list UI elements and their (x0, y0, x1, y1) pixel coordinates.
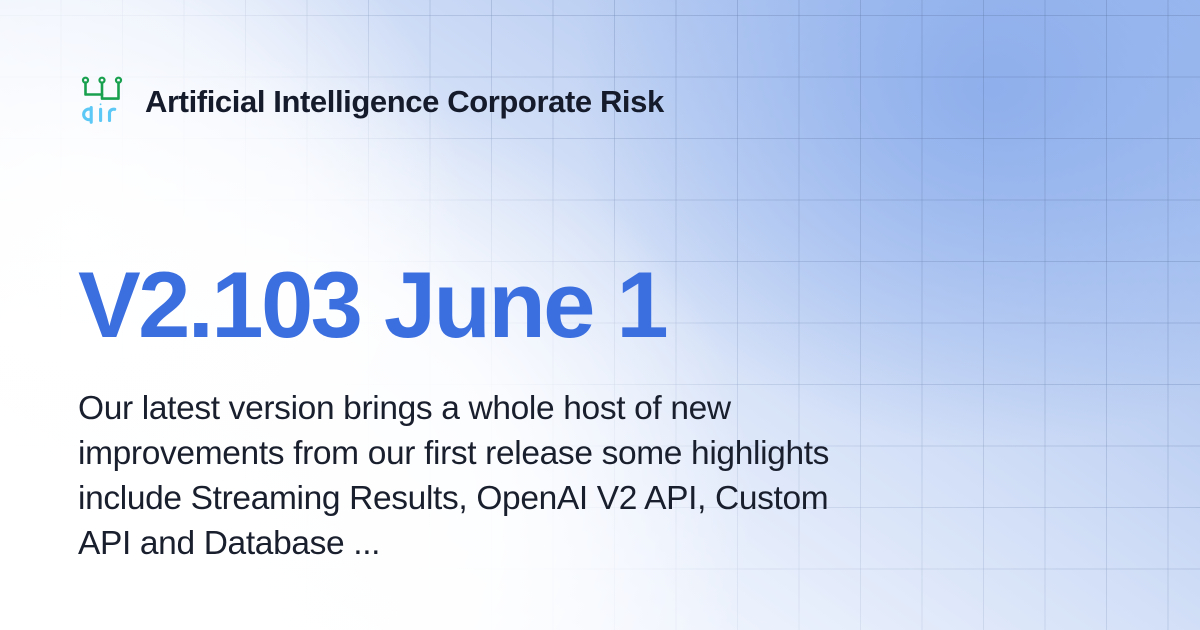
release-description: Our latest version brings a whole host o… (78, 386, 878, 566)
release-announcement-card: Artificial Intelligence Corporate Risk V… (0, 0, 1200, 630)
brand-title: Artificial Intelligence Corporate Risk (145, 86, 664, 117)
air-circuit-logo-icon (78, 76, 126, 126)
card-content: Artificial Intelligence Corporate Risk V… (0, 0, 1200, 630)
brand-header: Artificial Intelligence Corporate Risk (78, 76, 664, 126)
release-headline: V2.103 June 1 (78, 257, 666, 353)
